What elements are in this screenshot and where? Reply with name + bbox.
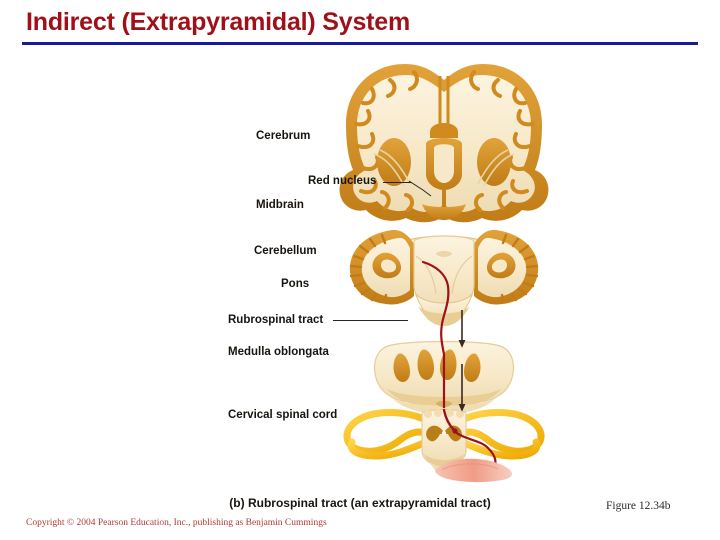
title-divider bbox=[22, 42, 698, 45]
cerebrum-illustration bbox=[340, 64, 549, 222]
leader-rubrospinal-tract bbox=[333, 320, 408, 321]
label-cerebellum: Cerebellum bbox=[254, 245, 317, 257]
label-cervical-spinal-cord: Cervical spinal cord bbox=[228, 409, 337, 421]
slide-root: Indirect (Extrapyramidal) System bbox=[0, 0, 720, 540]
label-red-nucleus: Red nucleus bbox=[308, 175, 376, 187]
leader-red-nucleus bbox=[383, 182, 411, 183]
label-rubrospinal-tract: Rubrospinal tract bbox=[228, 314, 323, 326]
page-title: Indirect (Extrapyramidal) System bbox=[26, 8, 410, 37]
copyright-notice: Copyright © 2004 Pearson Education, Inc.… bbox=[26, 518, 327, 528]
label-cerebrum: Cerebrum bbox=[256, 130, 310, 142]
label-pons: Pons bbox=[281, 278, 309, 290]
leader-red-nucleus-elbow bbox=[409, 178, 433, 200]
rubrospinal-tract-diagram bbox=[330, 58, 590, 488]
label-medulla-oblongata: Medulla oblongata bbox=[228, 346, 329, 358]
label-midbrain: Midbrain bbox=[256, 199, 304, 211]
figure-number: Figure 12.34b bbox=[606, 500, 671, 512]
